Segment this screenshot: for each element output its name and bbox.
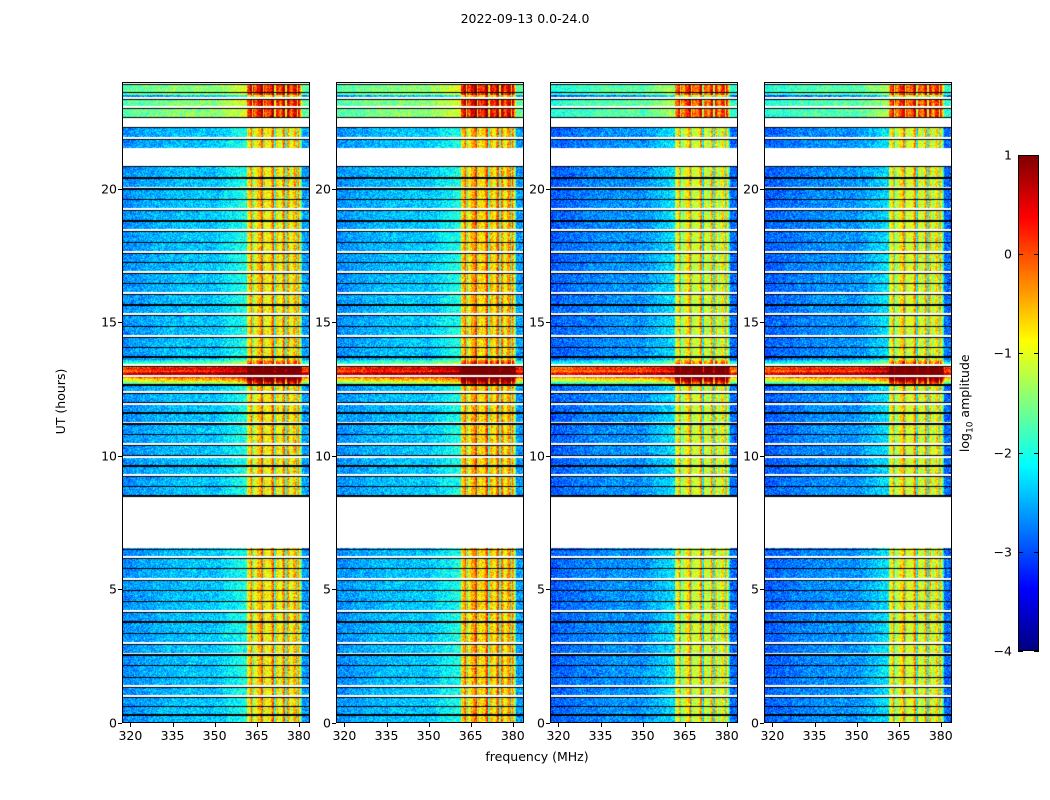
x-tick-mark xyxy=(815,723,816,727)
x-tick-label: 380 xyxy=(715,728,739,743)
x-tick-mark xyxy=(558,723,559,727)
y-tick-label: 5 xyxy=(109,582,117,597)
colorbar-tick-mark xyxy=(1018,552,1023,553)
figure-canvas: 2022-09-13 0.0-24.0 32033535036538005101… xyxy=(0,0,1050,800)
colorbar-tick-mark xyxy=(1034,353,1039,354)
y-tick-label: 20 xyxy=(529,181,545,196)
colorbar-tick-mark xyxy=(1018,353,1023,354)
colorbar-tick-label: −2 xyxy=(994,445,1012,460)
y-tick-mark xyxy=(760,589,764,590)
colorbar-tick-label: −3 xyxy=(994,544,1012,559)
x-tick-label: 380 xyxy=(287,728,311,743)
colorbar-tick-mark xyxy=(1034,651,1039,652)
colorbar-tick-mark xyxy=(1034,552,1039,553)
x-tick-label: 320 xyxy=(760,728,784,743)
y-tick-label: 20 xyxy=(101,181,117,196)
y-tick-mark xyxy=(332,723,336,724)
x-tick-label: 335 xyxy=(161,728,185,743)
colorbar-gradient xyxy=(1018,155,1039,651)
x-tick-label: 350 xyxy=(845,728,869,743)
colorbar-tick-mark xyxy=(1034,254,1039,255)
colorbar-label: log10 amplitude xyxy=(957,155,976,651)
x-tick-label: 365 xyxy=(673,728,697,743)
y-tick-mark xyxy=(118,322,122,323)
x-tick-mark xyxy=(727,723,728,727)
y-tick-label: 0 xyxy=(323,716,331,731)
spectrum-panel-yx[interactable]: 32033535036538005101520 xyxy=(764,82,952,723)
colorbar-tick-mark xyxy=(1018,254,1023,255)
x-tick-mark xyxy=(344,723,345,727)
x-tick-mark xyxy=(215,723,216,727)
x-tick-mark xyxy=(941,723,942,727)
dynamic-spectrum-yx xyxy=(764,82,952,723)
colorbar-tick-mark xyxy=(1034,155,1039,156)
y-tick-label: 5 xyxy=(537,582,545,597)
y-tick-mark xyxy=(760,723,764,724)
y-tick-label: 20 xyxy=(315,181,331,196)
y-tick-label: 0 xyxy=(537,716,545,731)
x-tick-label: 320 xyxy=(546,728,570,743)
y-tick-label: 5 xyxy=(323,582,331,597)
y-tick-mark xyxy=(546,189,550,190)
x-tick-mark xyxy=(429,723,430,727)
y-tick-mark xyxy=(760,456,764,457)
x-tick-mark xyxy=(257,723,258,727)
colorbar-tick-label: 1 xyxy=(1004,148,1012,163)
y-tick-mark xyxy=(118,456,122,457)
x-tick-mark xyxy=(471,723,472,727)
y-tick-label: 10 xyxy=(101,448,117,463)
colorbar-tick-mark xyxy=(1018,453,1023,454)
spectrum-panel-yy[interactable]: 32033535036538005101520 xyxy=(336,82,524,723)
y-tick-label: 15 xyxy=(743,315,759,330)
y-tick-mark xyxy=(118,589,122,590)
x-tick-label: 335 xyxy=(803,728,827,743)
x-tick-mark xyxy=(899,723,900,727)
x-tick-mark xyxy=(130,723,131,727)
x-tick-mark xyxy=(173,723,174,727)
x-tick-mark xyxy=(299,723,300,727)
x-tick-label: 320 xyxy=(118,728,142,743)
spectrum-panel-xx[interactable]: 32033535036538005101520 xyxy=(122,82,310,723)
x-tick-mark xyxy=(685,723,686,727)
y-tick-mark xyxy=(332,322,336,323)
x-tick-label: 335 xyxy=(375,728,399,743)
y-axis-label: UT (hours) xyxy=(53,81,68,722)
colorbar[interactable]: 10−1−2−3−4 xyxy=(1018,155,1039,651)
x-tick-mark xyxy=(857,723,858,727)
x-axis-label: frequency (MHz) xyxy=(122,749,952,764)
y-tick-mark xyxy=(546,589,550,590)
x-tick-mark xyxy=(601,723,602,727)
y-tick-label: 0 xyxy=(751,716,759,731)
x-tick-mark xyxy=(513,723,514,727)
y-tick-mark xyxy=(332,589,336,590)
x-tick-label: 365 xyxy=(459,728,483,743)
y-tick-label: 20 xyxy=(743,181,759,196)
figure-suptitle: 2022-09-13 0.0-24.0 xyxy=(0,11,1050,26)
dynamic-spectrum-yy xyxy=(336,82,524,723)
dynamic-spectrum-xy xyxy=(550,82,738,723)
x-tick-label: 380 xyxy=(501,728,525,743)
y-tick-label: 5 xyxy=(751,582,759,597)
y-tick-label: 0 xyxy=(109,716,117,731)
y-tick-mark xyxy=(332,456,336,457)
x-tick-label: 365 xyxy=(887,728,911,743)
y-tick-mark xyxy=(332,189,336,190)
y-tick-mark xyxy=(546,723,550,724)
x-tick-mark xyxy=(772,723,773,727)
y-tick-mark xyxy=(546,322,550,323)
x-tick-label: 320 xyxy=(332,728,356,743)
colorbar-tick-label: −1 xyxy=(994,346,1012,361)
colorbar-tick-mark xyxy=(1018,651,1023,652)
y-tick-mark xyxy=(546,456,550,457)
x-tick-label: 380 xyxy=(929,728,953,743)
x-tick-mark xyxy=(643,723,644,727)
y-tick-label: 10 xyxy=(743,448,759,463)
y-tick-mark xyxy=(760,189,764,190)
x-tick-mark xyxy=(387,723,388,727)
x-tick-label: 365 xyxy=(245,728,269,743)
y-tick-label: 10 xyxy=(315,448,331,463)
spectrum-panel-xy[interactable]: 32033535036538005101520 xyxy=(550,82,738,723)
y-tick-label: 10 xyxy=(529,448,545,463)
colorbar-tick-mark xyxy=(1034,453,1039,454)
colorbar-tick-mark xyxy=(1018,155,1023,156)
x-tick-label: 350 xyxy=(631,728,655,743)
x-tick-label: 335 xyxy=(589,728,613,743)
x-tick-label: 350 xyxy=(417,728,441,743)
y-tick-mark xyxy=(118,189,122,190)
y-tick-label: 15 xyxy=(101,315,117,330)
colorbar-tick-label: −4 xyxy=(994,644,1012,659)
dynamic-spectrum-xx xyxy=(122,82,310,723)
x-tick-label: 350 xyxy=(203,728,227,743)
y-tick-mark xyxy=(760,322,764,323)
colorbar-tick-label: 0 xyxy=(1004,247,1012,262)
y-tick-label: 15 xyxy=(529,315,545,330)
y-tick-mark xyxy=(118,723,122,724)
y-tick-label: 15 xyxy=(315,315,331,330)
